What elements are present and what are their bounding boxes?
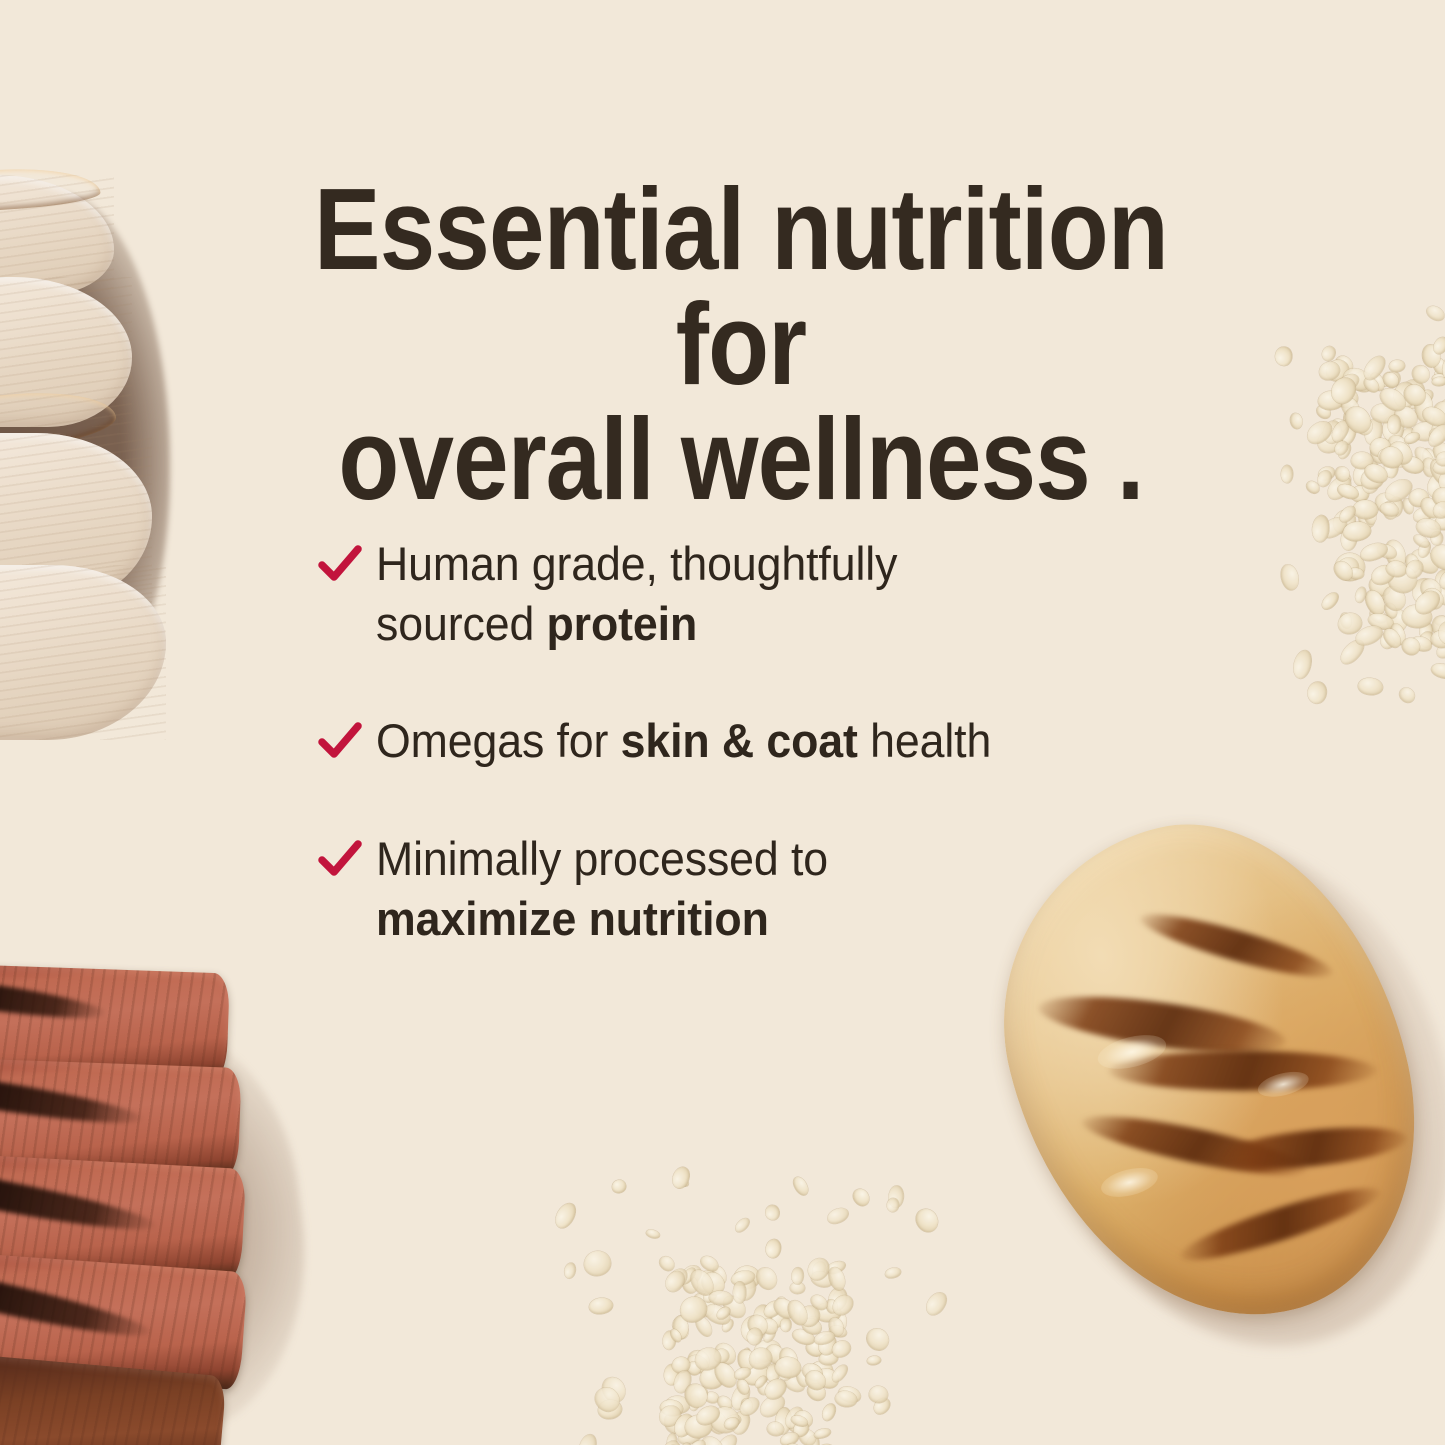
bullet-3-lead: Minimally processed to [376,832,828,885]
benefits-list: Human grade, thoughtfully sourced protei… [318,534,1198,948]
bullet-3-emphasis: maximize nutrition [376,892,769,945]
list-item-label: Human grade, thoughtfully sourced protei… [376,534,1032,653]
bullet-2-lead: Omegas for [376,714,621,767]
bullet-1-emphasis: protein [546,597,697,650]
check-icon [318,543,362,587]
headline-line-1: Essential nutrition for [272,172,1209,402]
check-icon [318,838,362,882]
headline-line-2: overall wellness . [272,402,1209,517]
list-item-label: Omegas for skin & coat health [376,711,991,771]
list-item: Omegas for skin & coat health [318,711,1198,771]
page-title: Essential nutrition for overall wellness… [272,172,1209,516]
list-item: Human grade, thoughtfully sourced protei… [318,534,1198,653]
list-item-label: Minimally processed to maximize nutritio… [376,829,965,948]
check-icon [318,720,362,764]
list-item: Minimally processed to maximize nutritio… [318,829,1198,948]
promo-banner: Essential nutrition for overall wellness… [0,0,1445,1445]
bullet-2-trail: health [858,714,991,767]
bullet-2-emphasis: skin & coat [621,714,858,767]
